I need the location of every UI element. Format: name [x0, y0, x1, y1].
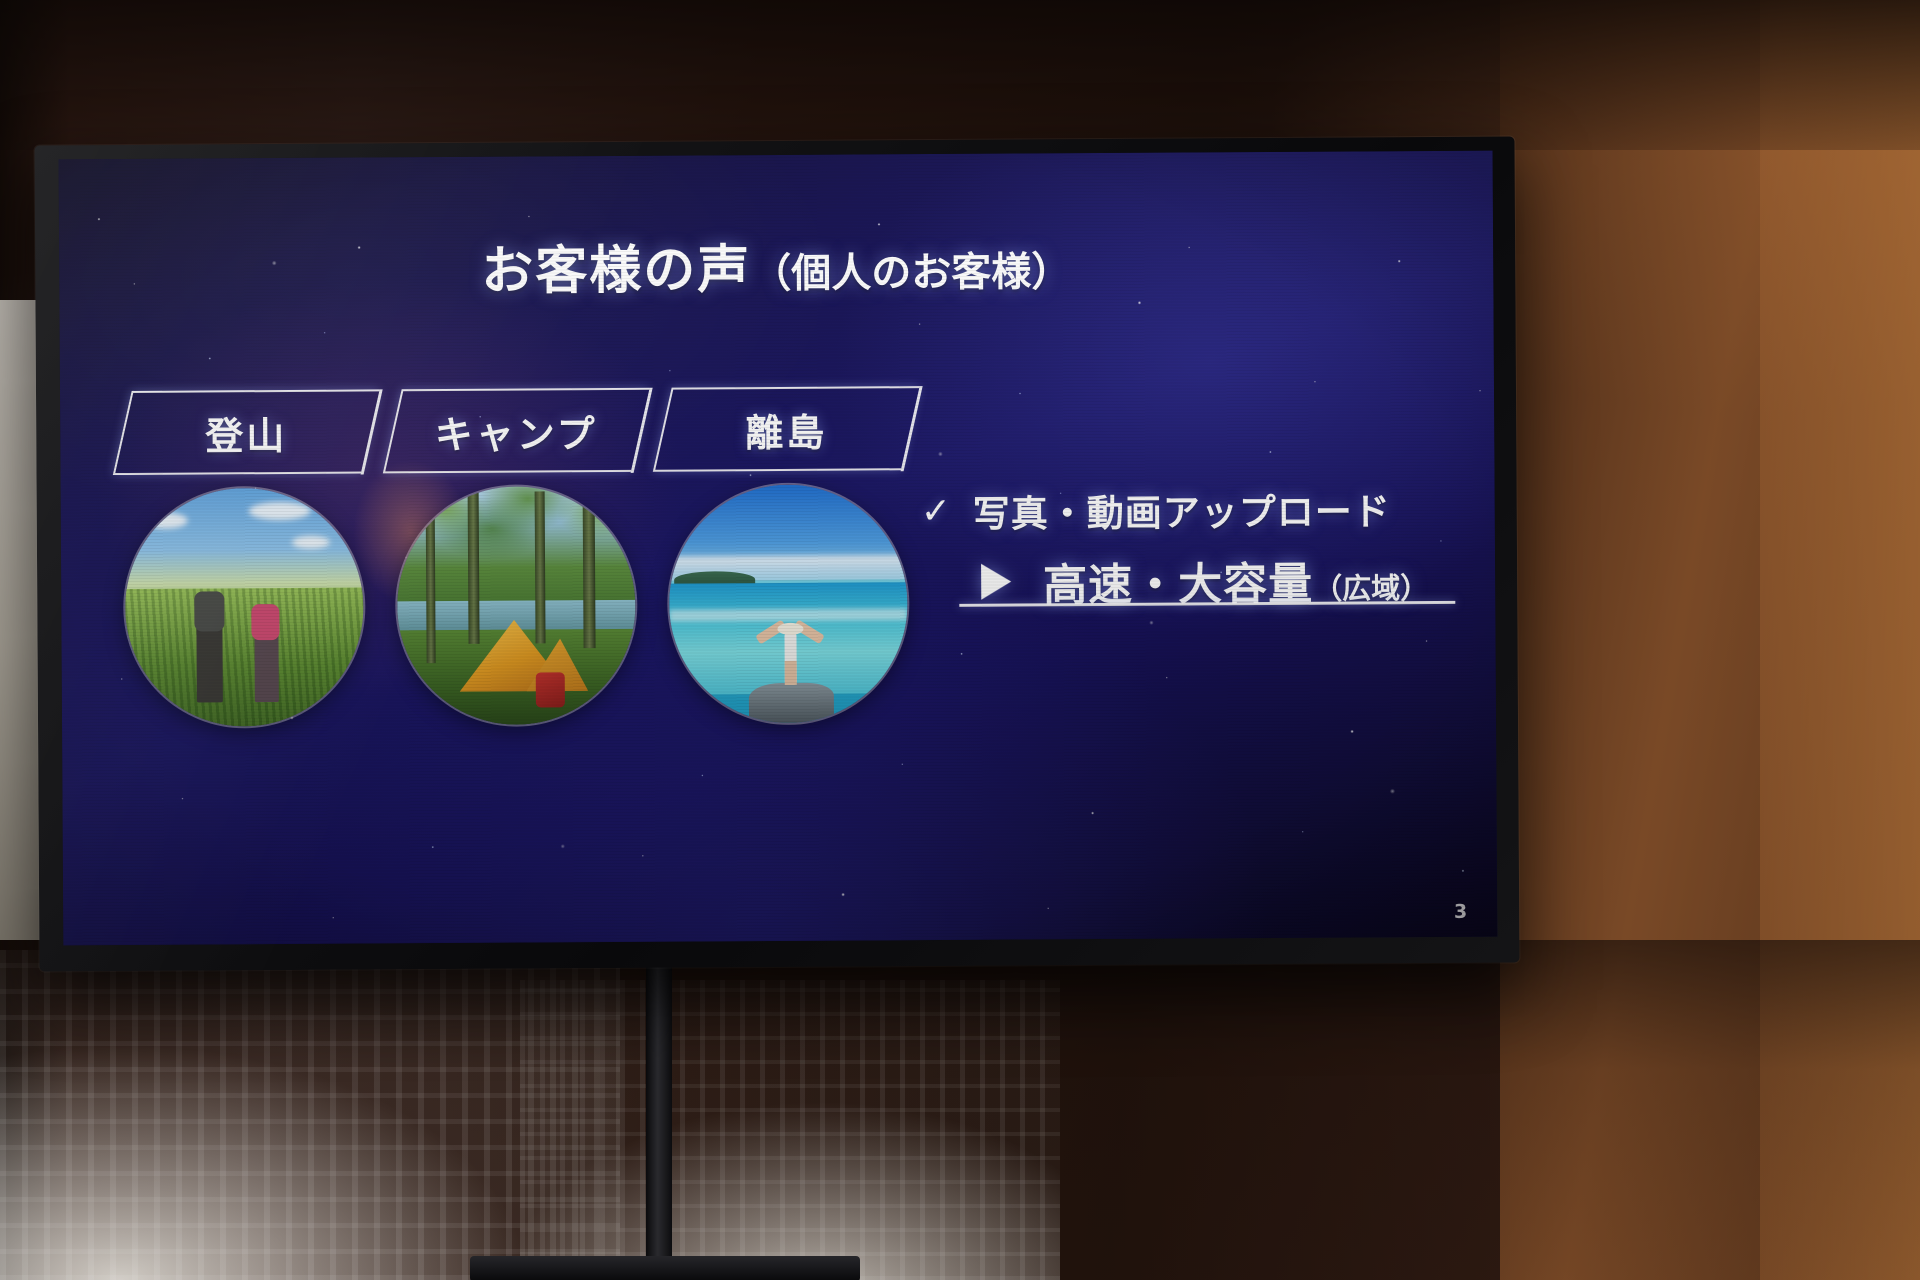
backpack-left — [194, 591, 224, 631]
check-icon: ✓ — [921, 490, 973, 531]
cloud-shape — [291, 535, 329, 548]
red-backpack — [536, 672, 565, 708]
cloud-shape — [248, 502, 310, 520]
category-tag-label: 離島 — [745, 401, 827, 456]
benefit-label-upload: 写真・動画アップロード — [973, 481, 1391, 538]
play-triangle-icon — [979, 561, 1043, 601]
screen-area: お客様の声（個人のお客様） 登山 キャンプ 離島 — [59, 151, 1498, 946]
photo-circle-camping — [397, 486, 636, 725]
tv-stand-neck — [646, 962, 672, 1280]
person-legs — [785, 661, 797, 685]
island-beach-photo — [669, 484, 908, 723]
tree-trunk — [582, 500, 595, 648]
photo-circle-row — [125, 484, 908, 727]
photo-circle-hiking — [125, 488, 364, 727]
category-tag-ritou[interactable]: 離島 — [662, 386, 911, 472]
tree-trunk — [468, 487, 480, 644]
photo-circle-island — [669, 484, 908, 723]
presentation-slide: お客様の声（個人のお客様） 登山 キャンプ 離島 — [59, 151, 1498, 946]
room-photograph: お客様の声（個人のお客様） 登山 キャンプ 離島 — [0, 0, 1920, 1280]
hiking-photo — [125, 488, 364, 727]
slide-title: お客様の声（個人のお客様） — [59, 223, 1493, 307]
backpack-right — [251, 604, 279, 640]
surf-line — [669, 608, 907, 621]
benefit-row-upload: ✓ 写真・動画アップロード — [921, 481, 1461, 538]
benefit-list: ✓ 写真・動画アップロード 高速・大容量（広域） — [921, 481, 1462, 614]
cloud-shape — [144, 512, 188, 528]
tree-trunk — [425, 497, 435, 664]
tv-stand-foot — [470, 1256, 860, 1280]
tree-trunk — [535, 491, 546, 643]
category-tag-tozan[interactable]: 登山 — [122, 389, 371, 475]
foreground-rock — [748, 682, 834, 723]
slide-title-parenthetical: （個人のお客様） — [751, 249, 1071, 297]
category-tag-label: 登山 — [205, 404, 287, 459]
category-tag-label: キャンプ — [435, 403, 598, 459]
lace-screen-center — [520, 980, 1060, 1280]
category-tag-camp[interactable]: キャンプ — [392, 388, 641, 474]
category-tag-row: 登山 キャンプ 離島 — [122, 386, 910, 475]
wood-wall-far-right — [1760, 0, 1920, 1280]
slide-title-main: お客様の声 — [481, 240, 751, 302]
camping-photo — [397, 486, 636, 725]
television-display: お客様の声（個人のお客様） 登山 キャンプ 離島 — [34, 136, 1519, 971]
ceiling-shadow — [0, 0, 1920, 150]
page-number: 3 — [1454, 901, 1467, 923]
grass-field — [125, 587, 364, 726]
